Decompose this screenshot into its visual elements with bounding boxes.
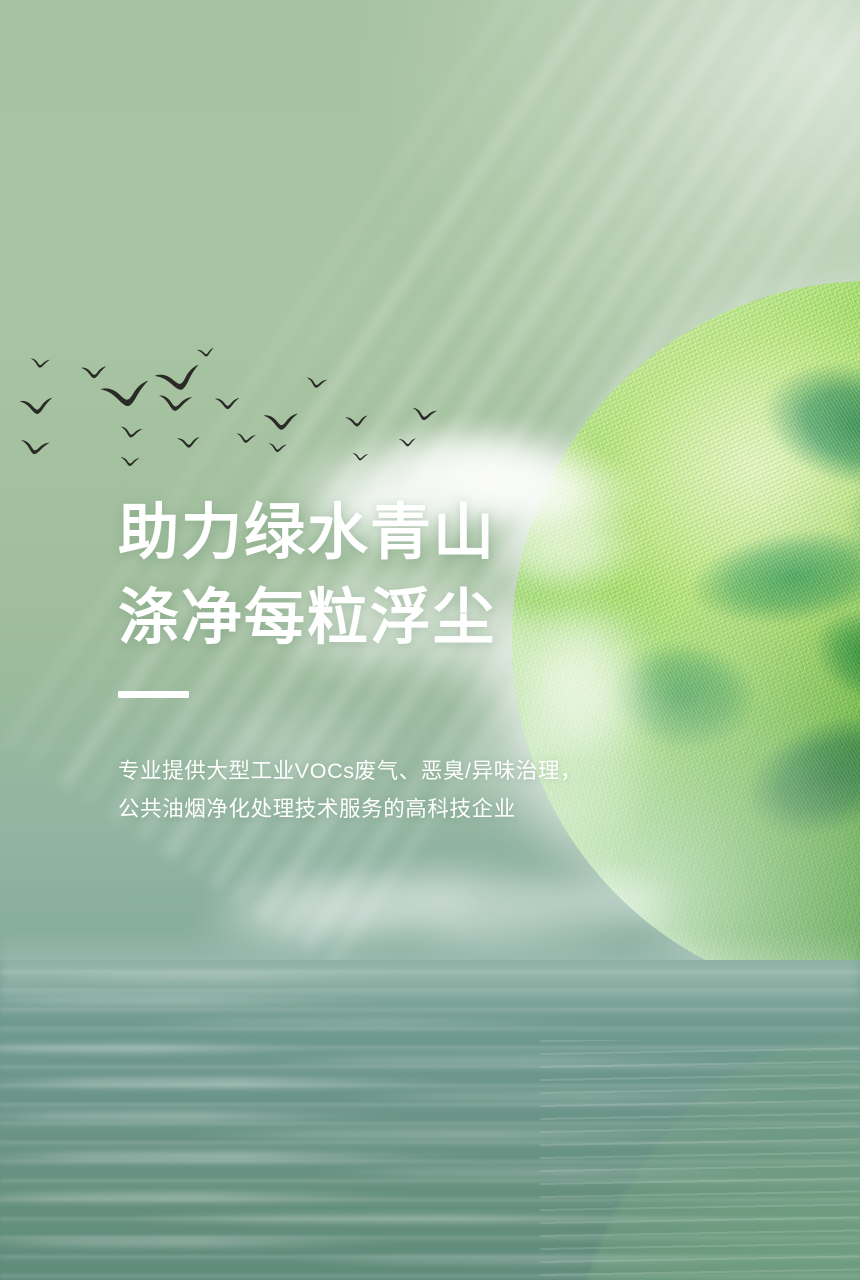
headline-line-1: 助力绿水青山 — [118, 490, 678, 575]
wave-streak-9 — [300, 1168, 820, 1177]
wave-streak-11 — [120, 1214, 760, 1223]
subtitle-line-2: 公共油烟净化处理技术服务的高科技企业 — [118, 790, 678, 828]
wave-streak-13 — [280, 1256, 800, 1265]
headline-line-2: 涤净每粒浮尘 — [118, 575, 678, 660]
wave-streak-5 — [330, 1092, 830, 1101]
wave-streak-7 — [180, 1130, 780, 1139]
headline-divider — [118, 691, 189, 698]
horizon-mist — [0, 930, 860, 1020]
hero-copy-block: 助力绿水青山 涤净每粒浮尘 专业提供大型工业VOCs废气、恶臭/异味治理， 公共… — [118, 490, 678, 828]
globe-reflection-ripples — [540, 1040, 860, 1280]
hero-banner: 助力绿水青山 涤净每粒浮尘 专业提供大型工业VOCs废气、恶臭/异味治理， 公共… — [0, 0, 860, 1280]
wave-streak-3 — [240, 1056, 800, 1065]
subtitle-line-1: 专业提供大型工业VOCs废气、恶臭/异味治理， — [118, 752, 678, 790]
